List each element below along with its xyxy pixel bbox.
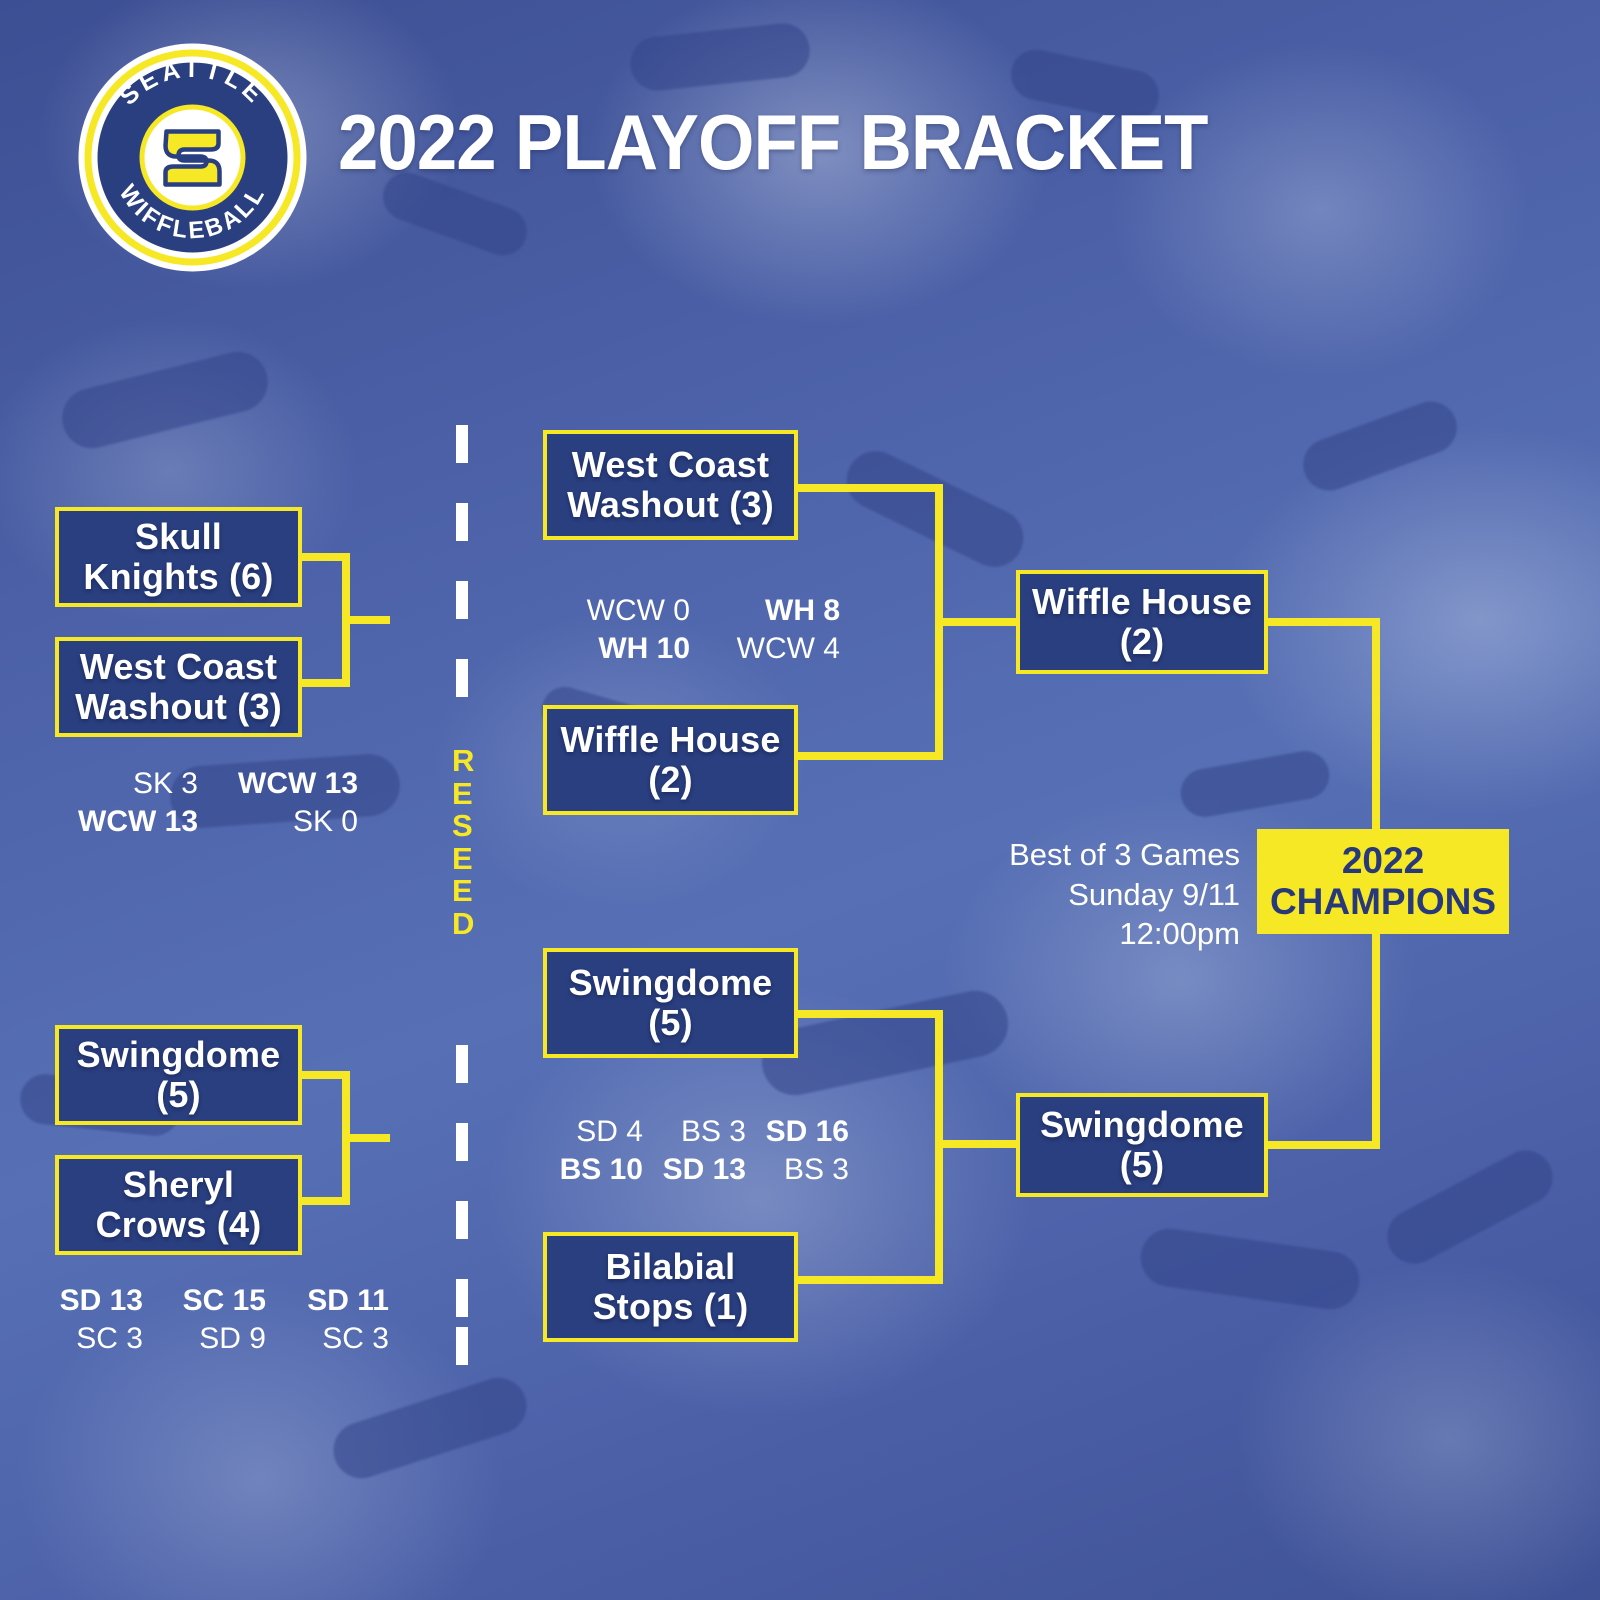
connector-r2-bottom-out: [935, 1140, 1023, 1148]
connector-final-top-arm: [1268, 618, 1380, 626]
champions-box: 2022 CHAMPIONS: [1257, 829, 1509, 934]
page-title: 2022 PLAYOFF BRACKET: [338, 103, 1208, 181]
round1-top-matchup-team-2[interactable]: West Coast Washout (3): [55, 637, 302, 737]
round1-top-matchup-team-1[interactable]: Skull Knights (6): [55, 507, 302, 607]
round1-bottom-matchup-team-2[interactable]: Sheryl Crows (4): [55, 1155, 302, 1255]
connector-r2-top-out: [935, 618, 1023, 626]
round1-bottom-matchup-scores: SD 13 SC 15 SD 11 SC 3 SD 9 SC 3: [20, 1282, 390, 1359]
round2-top-matchup-team-2[interactable]: Wiffle House (2): [543, 705, 798, 815]
round2-bottom-matchup-team-1[interactable]: Swingdome (5): [543, 948, 798, 1058]
connector-r1-bottom-out: [342, 1134, 390, 1142]
league-logo: SEATTLE WIFFLEBALL: [75, 40, 310, 275]
round2-top-matchup-team-1[interactable]: West Coast Washout (3): [543, 430, 798, 540]
connector-r2-top-lower-arm: [798, 752, 943, 760]
round3-finalist-bottom[interactable]: Swingdome (5): [1016, 1093, 1268, 1197]
reseed-label: R E S E E D: [452, 745, 472, 940]
round2-bottom-matchup-team-2[interactable]: Bilabial Stops (1): [543, 1232, 798, 1342]
connector-r2-bottom-upper-arm: [798, 1010, 943, 1018]
reseed-divider: R E S E E D: [452, 425, 472, 1365]
round1-top-matchup-scores: SK 3 WCW 13 WCW 13 SK 0: [38, 765, 368, 842]
round2-top-matchup-scores: WCW 0 WH 8 WH 10 WCW 4: [540, 592, 840, 669]
round3-finalist-top[interactable]: Wiffle House (2): [1016, 570, 1268, 674]
connector-r1-top-out: [342, 616, 390, 624]
connector-r2-top-upper-arm: [798, 484, 943, 492]
connector-final-bottom-arm: [1268, 1141, 1380, 1149]
final-series-info: Best of 3 Games Sunday 9/11 12:00pm: [930, 835, 1240, 954]
connector-r2-bottom-lower-arm: [798, 1276, 943, 1284]
round1-bottom-matchup-team-1[interactable]: Swingdome (5): [55, 1025, 302, 1125]
round2-bottom-matchup-scores: SD 4 BS 3 SD 16 BS 10 SD 13 BS 3: [540, 1113, 850, 1190]
bracket-poster: SEATTLE WIFFLEBALL 2022 PLAYOFF BRACKET …: [0, 0, 1600, 1600]
